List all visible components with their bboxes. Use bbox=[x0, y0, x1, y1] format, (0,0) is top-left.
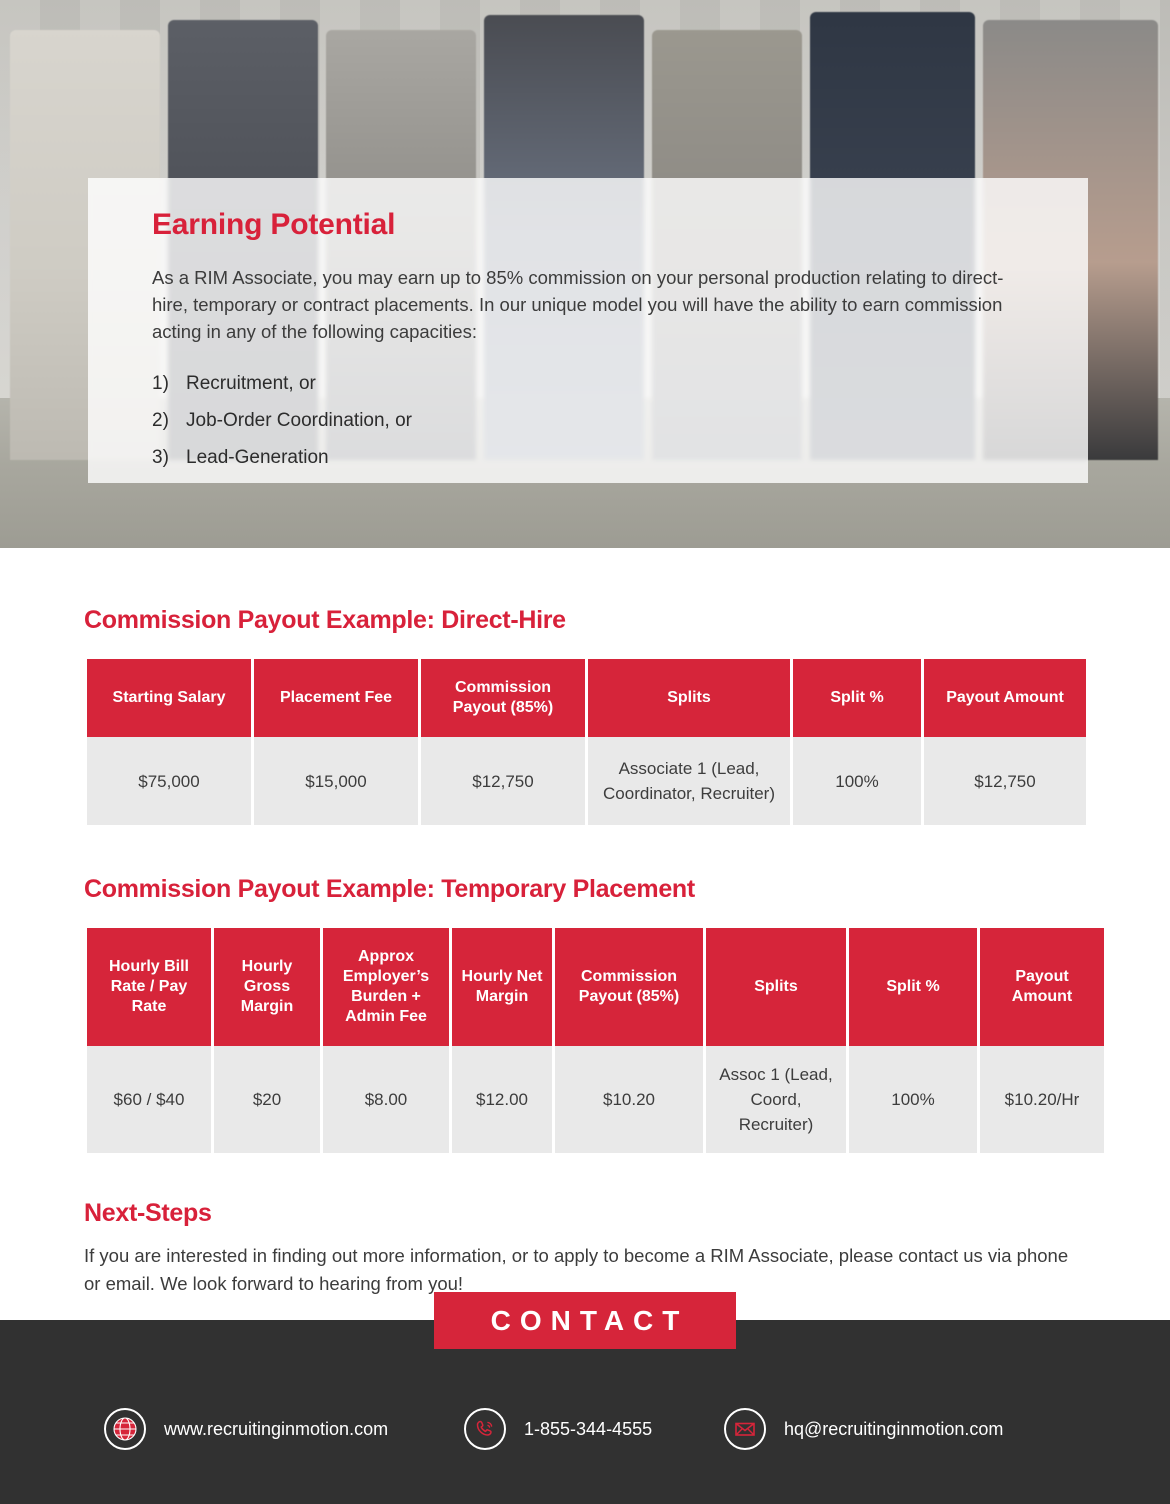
list-item-number: 3) bbox=[152, 439, 186, 476]
contact-row: www.recruitinginmotion.com 1-855-344-455… bbox=[0, 1408, 1170, 1450]
table-cell: $8.00 bbox=[323, 1046, 449, 1153]
table-cell: Associate 1 (Lead, Coordinator, Recruite… bbox=[588, 737, 790, 825]
page-title: Earning Potential bbox=[152, 208, 1022, 242]
hero-paragraph: As a RIM Associate, you may earn up to 8… bbox=[152, 264, 1012, 345]
table-cell: 100% bbox=[849, 1046, 977, 1153]
table-cell: $12,750 bbox=[421, 737, 585, 825]
table-header-row: Hourly Bill Rate / Pay Rate Hourly Gross… bbox=[87, 928, 1104, 1046]
table-cell: $20 bbox=[214, 1046, 320, 1153]
temporary-table-wrapper: Hourly Bill Rate / Pay Rate Hourly Gross… bbox=[84, 928, 1086, 1153]
table-cell: $15,000 bbox=[254, 737, 418, 825]
column-header: Commission Payout (85%) bbox=[421, 659, 585, 737]
table-cell: $10.20 bbox=[555, 1046, 703, 1153]
column-header: Splits bbox=[706, 928, 846, 1046]
list-item-number: 1) bbox=[152, 365, 186, 402]
column-header: Split % bbox=[793, 659, 921, 737]
direct-hire-section: Commission Payout Example: Direct-Hire S… bbox=[84, 606, 1086, 825]
globe-icon bbox=[104, 1408, 146, 1450]
table-cell: $75,000 bbox=[87, 737, 251, 825]
column-header: Approx Employer’s Burden + Admin Fee bbox=[323, 928, 449, 1046]
next-steps-section: Next-Steps If you are interested in find… bbox=[84, 1199, 1086, 1298]
phone-text: 1-855-344-4555 bbox=[524, 1419, 652, 1440]
direct-hire-table: Starting Salary Placement Fee Commission… bbox=[84, 659, 1089, 825]
table-row: $75,000 $15,000 $12,750 Associate 1 (Lea… bbox=[87, 737, 1086, 825]
column-header: Payout Amount bbox=[924, 659, 1086, 737]
hero-content: Earning Potential As a RIM Associate, yo… bbox=[152, 208, 1022, 476]
column-header: Starting Salary bbox=[87, 659, 251, 737]
column-header: Split % bbox=[849, 928, 977, 1046]
temporary-placement-table: Hourly Bill Rate / Pay Rate Hourly Gross… bbox=[84, 928, 1107, 1153]
contact-website[interactable]: www.recruitinginmotion.com bbox=[104, 1408, 464, 1450]
list-item-label: Lead-Generation bbox=[186, 439, 329, 476]
envelope-icon bbox=[724, 1408, 766, 1450]
list-item-label: Recruitment, or bbox=[186, 365, 316, 402]
list-item: 1) Recruitment, or bbox=[152, 365, 1022, 402]
section-title-temporary: Commission Payout Example: Temporary Pla… bbox=[84, 875, 1086, 904]
table-cell: $10.20/Hr bbox=[980, 1046, 1104, 1153]
table-cell: $60 / $40 bbox=[87, 1046, 211, 1153]
list-item: 3) Lead-Generation bbox=[152, 439, 1022, 476]
column-header: Hourly Gross Margin bbox=[214, 928, 320, 1046]
column-header: Commission Payout (85%) bbox=[555, 928, 703, 1046]
column-header: Hourly Bill Rate / Pay Rate bbox=[87, 928, 211, 1046]
table-cell: 100% bbox=[793, 737, 921, 825]
temporary-placement-section: Commission Payout Example: Temporary Pla… bbox=[84, 875, 1086, 1153]
direct-hire-table-wrapper: Starting Salary Placement Fee Commission… bbox=[84, 659, 1086, 825]
contact-email[interactable]: hq@recruitinginmotion.com bbox=[724, 1408, 1104, 1450]
main-content: Commission Payout Example: Direct-Hire S… bbox=[0, 606, 1170, 1298]
email-text: hq@recruitinginmotion.com bbox=[784, 1419, 1003, 1440]
table-cell: $12,750 bbox=[924, 737, 1086, 825]
section-title-next-steps: Next-Steps bbox=[84, 1199, 1086, 1228]
hero-banner: Earning Potential As a RIM Associate, yo… bbox=[0, 0, 1170, 548]
phone-icon bbox=[464, 1408, 506, 1450]
website-text: www.recruitinginmotion.com bbox=[164, 1419, 388, 1440]
contact-badge: CONTACT bbox=[434, 1292, 736, 1349]
column-header: Hourly Net Margin bbox=[452, 928, 552, 1046]
list-item: 2) Job-Order Coordination, or bbox=[152, 402, 1022, 439]
footer: CONTACT www.recruitinginmotion.com bbox=[0, 1320, 1170, 1504]
section-title-direct-hire: Commission Payout Example: Direct-Hire bbox=[84, 606, 1086, 635]
list-item-label: Job-Order Coordination, or bbox=[186, 402, 412, 439]
table-cell: $12.00 bbox=[452, 1046, 552, 1153]
capacities-list: 1) Recruitment, or 2) Job-Order Coordina… bbox=[152, 365, 1022, 476]
next-steps-paragraph: If you are interested in finding out mor… bbox=[84, 1242, 1084, 1298]
list-item-number: 2) bbox=[152, 402, 186, 439]
table-row: $60 / $40 $20 $8.00 $12.00 $10.20 Assoc … bbox=[87, 1046, 1104, 1153]
table-header-row: Starting Salary Placement Fee Commission… bbox=[87, 659, 1086, 737]
column-header: Placement Fee bbox=[254, 659, 418, 737]
contact-phone[interactable]: 1-855-344-4555 bbox=[464, 1408, 724, 1450]
table-cell: Assoc 1 (Lead, Coord, Recruiter) bbox=[706, 1046, 846, 1153]
column-header: Payout Amount bbox=[980, 928, 1104, 1046]
column-header: Splits bbox=[588, 659, 790, 737]
